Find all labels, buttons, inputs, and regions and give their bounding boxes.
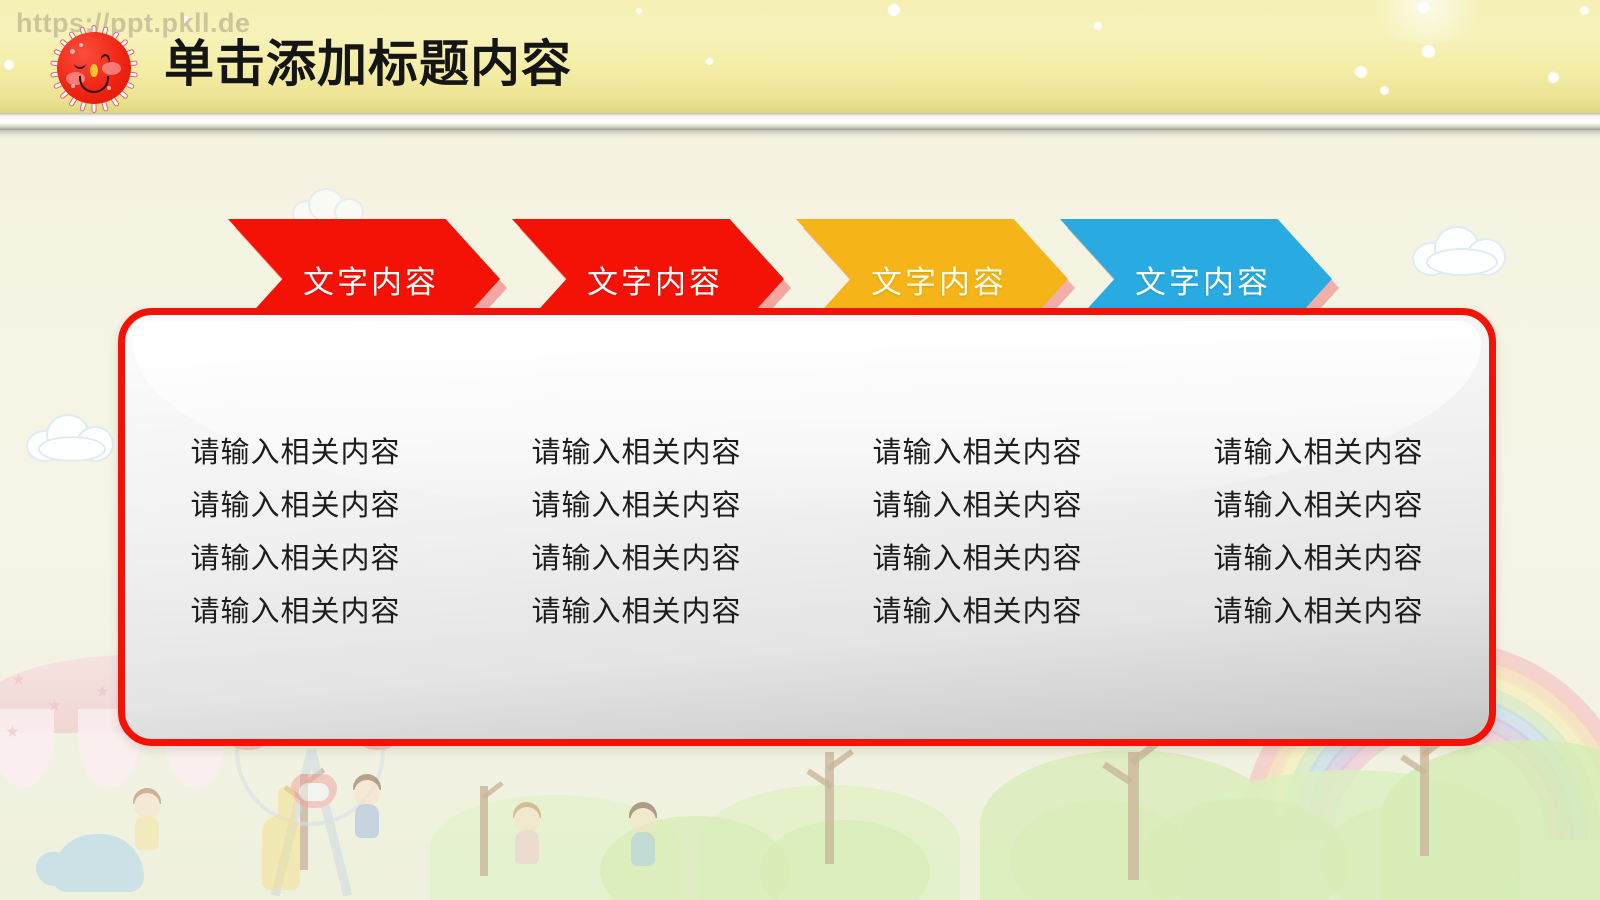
- bush-shape: [1140, 798, 1350, 900]
- content-line[interactable]: 请输入相关内容: [1213, 427, 1423, 480]
- content-line[interactable]: 请输入相关内容: [531, 480, 741, 533]
- content-line[interactable]: 请输入相关内容: [872, 427, 1082, 480]
- content-line[interactable]: 请输入相关内容: [1213, 533, 1423, 586]
- content-column-2[interactable]: 请输入相关内容请输入相关内容请输入相关内容请输入相关内容: [466, 427, 807, 639]
- slide-canvas: https://ppt.pkll.de 文字内容文字内容文字内容文字内容 请输入…: [0, 0, 1600, 900]
- bush-shape: [1320, 802, 1520, 900]
- hill-shape: [980, 750, 1280, 900]
- tree-shape: [1102, 762, 1133, 785]
- cloud-shape: [26, 412, 122, 464]
- content-panel[interactable]: 请输入相关内容请输入相关内容请输入相关内容请输入相关内容请输入相关内容请输入相关…: [118, 308, 1496, 746]
- hill-shape: [1180, 770, 1520, 900]
- content-columns: 请输入相关内容请输入相关内容请输入相关内容请输入相关内容请输入相关内容请输入相关…: [125, 427, 1489, 639]
- content-line[interactable]: 请输入相关内容: [190, 586, 400, 639]
- content-column-1[interactable]: 请输入相关内容请输入相关内容请输入相关内容请输入相关内容: [125, 427, 466, 639]
- content-line[interactable]: 请输入相关内容: [872, 533, 1082, 586]
- bush-shape: [1010, 800, 1190, 900]
- tree-shape: [301, 768, 325, 788]
- content-line[interactable]: 请输入相关内容: [190, 427, 400, 480]
- content-column-3[interactable]: 请输入相关内容请输入相关内容请输入相关内容请输入相关内容: [807, 427, 1148, 639]
- slide-title[interactable]: 单击添加标题内容: [164, 33, 572, 96]
- tree-shape: [1128, 752, 1139, 880]
- content-line[interactable]: 请输入相关内容: [531, 427, 741, 480]
- content-line[interactable]: 请输入相关内容: [531, 533, 741, 586]
- child-figure: [132, 788, 162, 848]
- content-line[interactable]: 请输入相关内容: [872, 586, 1082, 639]
- bush-shape: [600, 816, 790, 900]
- tree-shape: [480, 786, 488, 876]
- tree-shape: [1400, 755, 1427, 776]
- content-line[interactable]: 请输入相关内容: [531, 586, 741, 639]
- giraffe-figure: [262, 816, 300, 890]
- child-figure: [628, 802, 660, 872]
- tree-shape: [284, 785, 307, 802]
- sun-smiley-icon: [40, 22, 148, 116]
- header-divider-shadow: [0, 130, 1600, 139]
- tree-shape: [1420, 736, 1429, 856]
- elephant-figure: [52, 834, 144, 892]
- content-column-4[interactable]: 请输入相关内容请输入相关内容请输入相关内容请输入相关内容: [1148, 427, 1489, 639]
- content-line[interactable]: 请输入相关内容: [190, 480, 400, 533]
- header-divider-bar: [0, 113, 1600, 130]
- tree-shape: [825, 752, 834, 864]
- content-line[interactable]: 请输入相关内容: [872, 480, 1082, 533]
- hill-shape: [700, 785, 960, 900]
- tree-shape: [826, 749, 854, 771]
- child-figure: [352, 774, 382, 840]
- tree-shape: [300, 774, 308, 870]
- child-figure: [512, 802, 542, 864]
- content-line[interactable]: 请输入相关内容: [1213, 480, 1423, 533]
- bush-shape: [760, 820, 930, 900]
- content-line[interactable]: 请输入相关内容: [190, 533, 400, 586]
- tree-shape: [806, 769, 833, 790]
- content-line[interactable]: 请输入相关内容: [1213, 586, 1423, 639]
- hill-shape: [430, 795, 680, 900]
- hill-shape: [1380, 740, 1600, 900]
- tree-shape: [481, 781, 503, 799]
